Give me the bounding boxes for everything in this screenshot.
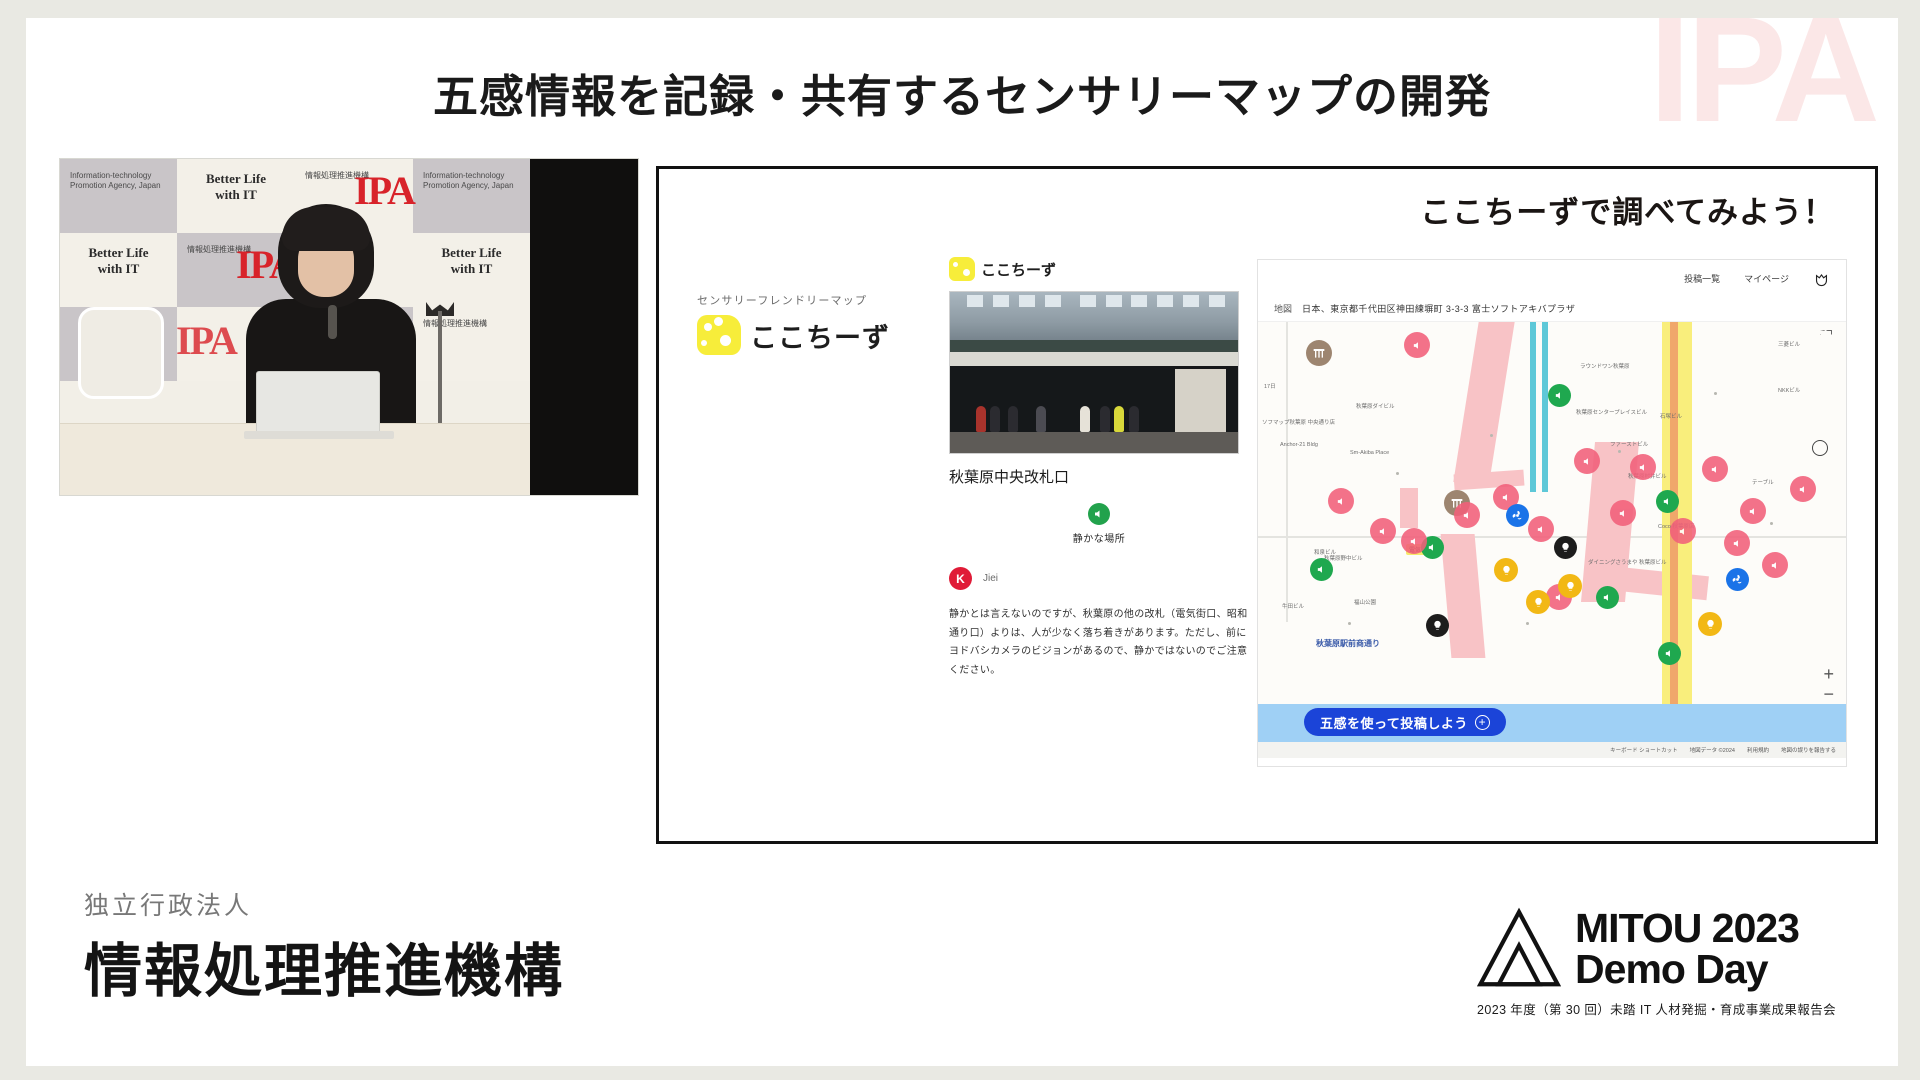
post-card-brand: ここちーず [949, 257, 1249, 281]
slide-panel: ここちーずで調べてみよう！ センサリーフレンドリーマップ ここちーず ここちーず [656, 166, 1878, 844]
org-main-name: 情報処理推進機構 [84, 924, 564, 1008]
map-pin-noise[interactable] [1404, 332, 1430, 358]
backdrop-with-it-text: with IT [187, 187, 285, 203]
backdrop-agency-en-1: Information-technology Promotion Agency,… [60, 159, 177, 233]
speaker-icon [1316, 564, 1327, 575]
post-photo-building [950, 292, 1238, 347]
photo-mic-stand [438, 311, 442, 431]
post-with-senses-label: 五感を使って投稿しよう [1320, 713, 1468, 732]
map-pin-noise[interactable] [1401, 528, 1427, 554]
map-footer-shortcuts[interactable]: キーボード ショートカット [1610, 746, 1678, 754]
fan-icon [1512, 510, 1523, 521]
map-addressbar: 地図 日本、東京都千代田区神田練塀町 3-3-3 富士ソフトアキバプラザ [1258, 296, 1846, 322]
mitou-mountain-icon [1477, 907, 1561, 991]
presenter-photo: Information-technology Promotion Agency,… [59, 158, 639, 496]
map-pin-quiet[interactable] [1548, 384, 1571, 407]
map-address-text[interactable]: 日本、東京都千代田区神田練塀町 3-3-3 富士ソフトアキバプラザ [1302, 302, 1575, 315]
map-label: ソフマップ秋葉原 中央通り店 [1262, 418, 1335, 426]
org-sub-name: 独立行政法人 [84, 886, 564, 922]
speaker-icon [1638, 462, 1649, 473]
page-title: 五感情報を記録・共有するセンサリーマップの開発 [26, 60, 1898, 125]
backdrop-with-it-text-2: with IT [70, 261, 167, 277]
speaker-icon [1732, 538, 1743, 549]
app-logo-icon[interactable] [1813, 270, 1830, 287]
speaker-icon [1501, 492, 1512, 503]
map-label: ラウンドワン秋葉原 [1580, 362, 1630, 370]
speaker-icon [1427, 542, 1438, 553]
speaker-icon [1678, 526, 1689, 537]
map-label: Anchor-21 Bldg [1280, 442, 1318, 448]
map-pin-noise[interactable] [1370, 518, 1396, 544]
poi-shrine-icon [1306, 340, 1332, 366]
org-logo: 独立行政法人 情報処理推進機構 [84, 886, 564, 1008]
speaker-icon [1664, 648, 1675, 659]
backdrop-agency-en-2: Information-technology Promotion Agency,… [413, 159, 530, 233]
map-footer-report[interactable]: 地図の誤りを報告する [1781, 746, 1836, 754]
map-pin-noise[interactable] [1574, 448, 1600, 474]
zoom-in-button[interactable]: + [1823, 664, 1834, 684]
map-pin-dark[interactable] [1554, 536, 1577, 559]
map-pin-quiet[interactable] [1596, 586, 1619, 609]
map-pin-dark[interactable] [1426, 614, 1449, 637]
speaker-icon [1618, 508, 1629, 519]
backdrop-ipa-3: IPA [176, 317, 236, 364]
cheese-hole-small-icon [701, 340, 707, 346]
map-pin-noise[interactable] [1724, 530, 1750, 556]
speaker-icon [1798, 484, 1809, 495]
map-label: 秋葉原センタープレイスビル [1576, 408, 1647, 416]
map-pin-noise[interactable] [1610, 500, 1636, 526]
map-label: 牛田ビル [1282, 602, 1304, 610]
slide-heading: ここちーずで調べてみよう！ [1420, 187, 1835, 232]
map-label: ダイニングさうまや 秋葉原ビル [1588, 558, 1667, 566]
post-place-name: 秋葉原中央改札口 [949, 466, 1249, 487]
post-username: Jiei [983, 573, 998, 584]
event-wordmark: MITOU 2023 Demo Day [1575, 908, 1799, 990]
backdrop-better-1: Better Life with IT [177, 159, 295, 233]
speaker-icon [1536, 524, 1547, 535]
map-label: 福山公園 [1354, 598, 1376, 606]
speaker-icon [1602, 592, 1613, 603]
event-logo: MITOU 2023 Demo Day 2023 年度（第 30 回）未踏 IT… [1477, 907, 1836, 1018]
bulb-icon [1705, 619, 1716, 630]
speaker-icon [1582, 456, 1593, 467]
map-street-label: 秋葉原駅前商通り [1316, 638, 1380, 649]
map-nav-mypage[interactable]: マイページ [1744, 272, 1789, 285]
map-pin-noise[interactable] [1790, 476, 1816, 502]
photo-chair [78, 307, 164, 399]
photo-microphone [328, 305, 337, 339]
speaker-icon [1554, 390, 1565, 401]
post-user: K Jiei [949, 567, 1249, 590]
map-pin-quiet[interactable] [1656, 490, 1679, 513]
brand-block: センサリーフレンドリーマップ ここちーず [697, 292, 927, 355]
backdrop-with-it-text-3: with IT [423, 261, 520, 277]
slide-frame: IPA 五感情報を記録・共有するセンサリーマップの開発 Information-… [26, 18, 1898, 1066]
map-footer-data: 地図データ ©2024 [1690, 746, 1735, 754]
bulb-icon [1560, 542, 1571, 553]
post-photo-ground [950, 432, 1238, 453]
map-footer: キーボード ショートカット 地図データ ©2024 利用規約 地図の誤りを報告す… [1258, 742, 1846, 758]
post-tag: 静かな場所 [949, 503, 1249, 545]
map-label: 秋葉原ダイビル [1356, 402, 1395, 410]
map-nav-posts[interactable]: 投稿一覧 [1684, 272, 1720, 285]
map-pin-bright[interactable] [1526, 590, 1550, 614]
fan-icon [1732, 574, 1743, 585]
map-canvas[interactable]: 17日 秋葉原ダイビル Sm-Akiba Place Anchor-21 Bld… [1258, 322, 1846, 758]
brand-tagline: センサリーフレンドリーマップ [697, 292, 927, 308]
map-pin-noise[interactable] [1762, 552, 1788, 578]
post-card-brand-name: ここちーず [981, 259, 1056, 280]
photo-dark-background [530, 159, 639, 496]
backdrop-better-life-text: Better Life [187, 171, 285, 187]
event-title-line2: Demo Day [1575, 949, 1799, 990]
map-pin-noise[interactable] [1702, 456, 1728, 482]
cheese-logo-small-icon [949, 257, 975, 281]
backdrop-better-2: Better Life with IT [60, 233, 177, 307]
map-label: 17日 [1264, 382, 1276, 390]
backdrop-ipa-1: IPA [354, 167, 414, 214]
map-pin-bright[interactable] [1494, 558, 1518, 582]
map-zoom-controls[interactable]: + − [1823, 664, 1834, 704]
brand-name: ここちーず [750, 316, 890, 355]
map-pin-bright[interactable] [1698, 612, 1722, 636]
map-pin-blue[interactable] [1726, 568, 1749, 591]
map-pin-blue[interactable] [1506, 504, 1529, 527]
avatar: K [949, 567, 972, 590]
speaker-icon [1748, 506, 1759, 517]
map-pin-quiet[interactable] [1658, 642, 1681, 665]
backdrop-better-life-text-2: Better Life [70, 245, 167, 261]
photo-presenter-hair [282, 207, 370, 251]
event-caption: 2023 年度（第 30 回）未踏 IT 人材発掘・育成事業成果報告会 [1477, 999, 1836, 1018]
bulb-icon [1432, 620, 1443, 631]
photo-laptop [256, 371, 380, 433]
plus-icon: + [1475, 715, 1490, 730]
map-label: NKKビル [1778, 386, 1800, 394]
map-label: ファーストビル [1610, 440, 1648, 448]
map-pin-noise[interactable] [1630, 454, 1656, 480]
backdrop-better-life-text-3: Better Life [423, 245, 520, 261]
map-pin-bright[interactable] [1558, 574, 1582, 598]
map-application: 投稿一覧 マイページ 地図 日本、東京都千代田区神田練塀町 3-3-3 富士ソフ… [1257, 259, 1847, 767]
post-with-senses-button[interactable]: 五感を使って投稿しよう + [1304, 708, 1506, 736]
map-pin-noise[interactable] [1328, 488, 1354, 514]
zoom-out-button[interactable]: − [1823, 684, 1834, 704]
map-label: 三菱ビル [1778, 340, 1800, 348]
map-topbar: 投稿一覧 マイページ [1258, 260, 1846, 296]
post-photo-band [950, 340, 1238, 351]
cheese-hole-icon [714, 317, 723, 326]
speaker-icon [1409, 536, 1420, 547]
event-logo-row: MITOU 2023 Demo Day [1477, 907, 1836, 991]
speaker-icon [1412, 340, 1423, 351]
map-address-label: 地図 [1274, 302, 1292, 315]
bulb-icon [1565, 581, 1576, 592]
post-photo-deck [950, 352, 1238, 366]
map-pin-noise[interactable] [1528, 516, 1554, 542]
map-label: 石塚ビル [1660, 412, 1682, 420]
speaker-icon [1662, 496, 1673, 507]
post-tag-label: 静かな場所 [1073, 530, 1126, 545]
backdrop-agency-jp-3: 情報処理推進機構 [413, 307, 530, 381]
speaker-icon [1710, 464, 1721, 475]
speaker-icon [1770, 560, 1781, 571]
map-pin-noise[interactable] [1670, 518, 1696, 544]
event-title-line1: MITOU 2023 [1575, 908, 1799, 949]
speaker-icon [1462, 510, 1473, 521]
bulb-icon [1533, 597, 1544, 608]
map-footer-terms[interactable]: 利用規約 [1747, 746, 1769, 754]
speaker-icon [1336, 496, 1347, 507]
speaker-icon [1378, 526, 1389, 537]
map-pin-noise[interactable] [1454, 502, 1480, 528]
compass-icon[interactable] [1812, 440, 1828, 456]
bulb-icon [1501, 565, 1512, 576]
map-label: テーブル [1752, 478, 1774, 486]
cheese-logo-icon [697, 315, 741, 355]
post-photo-wall [1175, 369, 1227, 433]
backdrop-better-3: Better Life with IT [413, 233, 530, 307]
fullscreen-icon[interactable] [1820, 330, 1832, 342]
photo-laptop-base [244, 431, 394, 439]
post-photo [949, 291, 1239, 454]
map-label: Sm-Akiba Place [1350, 450, 1389, 456]
post-card: ここちーず [949, 257, 1249, 737]
quiet-speaker-icon [1088, 503, 1110, 525]
brand-row: ここちーず [697, 315, 927, 355]
post-body: 静かとは言えないのですが、秋葉原の他の改札（電気街口、昭和通り口）よりは、人が少… [949, 606, 1249, 680]
map-pin-quiet[interactable] [1310, 558, 1333, 581]
map-pin-noise[interactable] [1740, 498, 1766, 524]
